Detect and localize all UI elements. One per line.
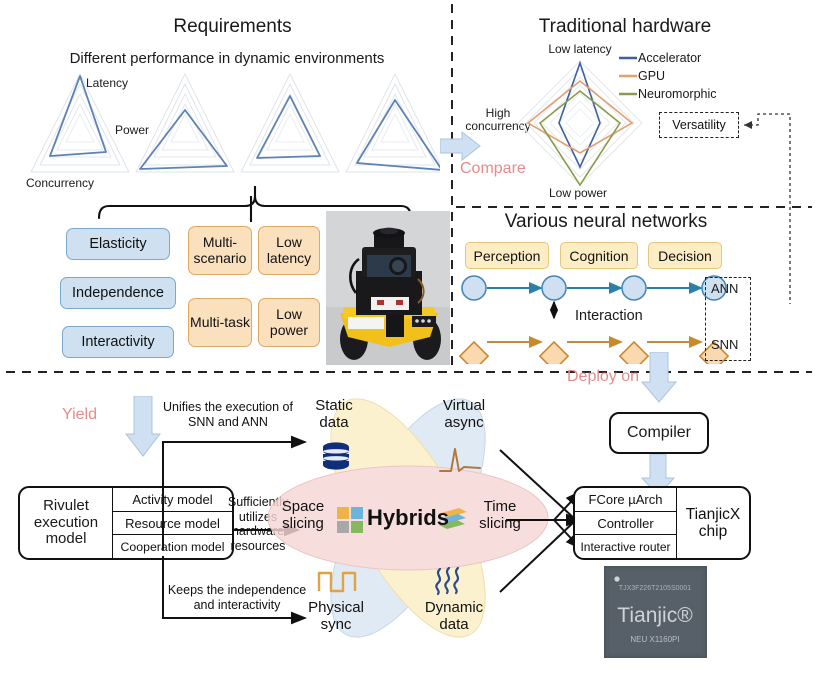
venn-node-physical-sync[interactable]: Physical sync	[302, 600, 370, 633]
stage-decision[interactable]: Decision	[648, 242, 722, 269]
req-axis-power: Power	[115, 123, 149, 137]
req-axis-latency: Latency	[86, 76, 128, 90]
tag-multi-task[interactable]: Multi-task	[188, 298, 252, 347]
tag-independence[interactable]: Independence	[60, 277, 176, 309]
venn-node-static-data[interactable]: Static data	[300, 398, 368, 431]
venn-node-virtual-async[interactable]: Virtual async	[428, 398, 500, 431]
tag-elasticity[interactable]: Elasticity	[66, 228, 170, 260]
venn-label-space-slicing: Space slicing	[282, 498, 325, 532]
chip-brand-text: Tianjic®	[617, 604, 693, 627]
brace-stem	[249, 196, 253, 222]
legend-item-accelerator: Accelerator	[638, 51, 701, 65]
tianjicx-chip-box[interactable]: FCore µArch Controller Interactive route…	[573, 486, 751, 560]
square-wave-icon	[317, 567, 359, 595]
tag-low-latency[interactable]: Low latency	[258, 226, 320, 275]
robot-photo	[326, 211, 450, 365]
requirements-subtitle: Different performance in dynamic environ…	[32, 50, 422, 67]
compiler-box[interactable]: Compiler	[609, 412, 709, 454]
chip-name: TianjicX chip	[677, 488, 749, 558]
requirements-title: Requirements	[125, 16, 340, 38]
waves-icon	[432, 565, 472, 597]
traditional-title: Traditional hardware	[495, 16, 755, 38]
spike-icon	[438, 443, 482, 477]
venn-node-dynamic-data[interactable]: Dynamic data	[418, 600, 490, 633]
row-label-ann: ANN	[711, 281, 738, 296]
chip-row-router[interactable]: Interactive router	[575, 535, 676, 558]
venn-center-hybrids: Hybrids	[353, 505, 463, 531]
venn-label-physical-sync: Physical sync	[308, 599, 364, 633]
tianjic-chip-photo: TJX3F226T2105S0001 Tianjic® NEU X1160PI	[604, 566, 707, 658]
yield-label: Yield	[62, 406, 97, 424]
venn-node-space-slicing[interactable]: Space slicing	[272, 499, 334, 532]
venn-label-dynamic-data: Dynamic data	[425, 599, 483, 633]
radar-legend-swatches	[618, 52, 640, 104]
req-axis-concurrency: Concurrency	[26, 176, 94, 190]
row-label-snn: SNN	[711, 337, 738, 352]
tag-low-power[interactable]: Low power	[258, 298, 320, 347]
venn-label-static-data: Static data	[315, 397, 353, 431]
stage-perception[interactable]: Perception	[465, 242, 549, 269]
chip-row-controller[interactable]: Controller	[575, 512, 676, 536]
chip-row-fcore[interactable]: FCore µArch	[575, 488, 676, 512]
tag-interactivity[interactable]: Interactivity	[62, 326, 174, 358]
chip-serial-text: TJX3F226T2105S0001	[619, 585, 691, 592]
legend-item-gpu: GPU	[638, 69, 665, 83]
rivulet-model-name: Rivulet execution model	[20, 488, 113, 558]
tag-multi-scenario[interactable]: Multi-scenario	[188, 226, 252, 275]
database-icon	[320, 441, 352, 473]
stage-cognition[interactable]: Cognition	[560, 242, 638, 269]
neural-title: Various neural networks	[470, 211, 742, 233]
compare-arrow-icon	[440, 130, 490, 164]
interaction-label: Interaction	[575, 308, 643, 324]
venn-label-virtual-async: Virtual async	[443, 397, 485, 431]
deploy-on-label: Deploy on	[567, 368, 639, 386]
deploy-arrow-icon	[641, 352, 677, 404]
legend-item-neuromorphic: Neuromorphic	[638, 87, 717, 101]
versatility-box: Versatility	[659, 112, 739, 138]
chip-part-text: NEU X1160PI	[630, 635, 679, 644]
